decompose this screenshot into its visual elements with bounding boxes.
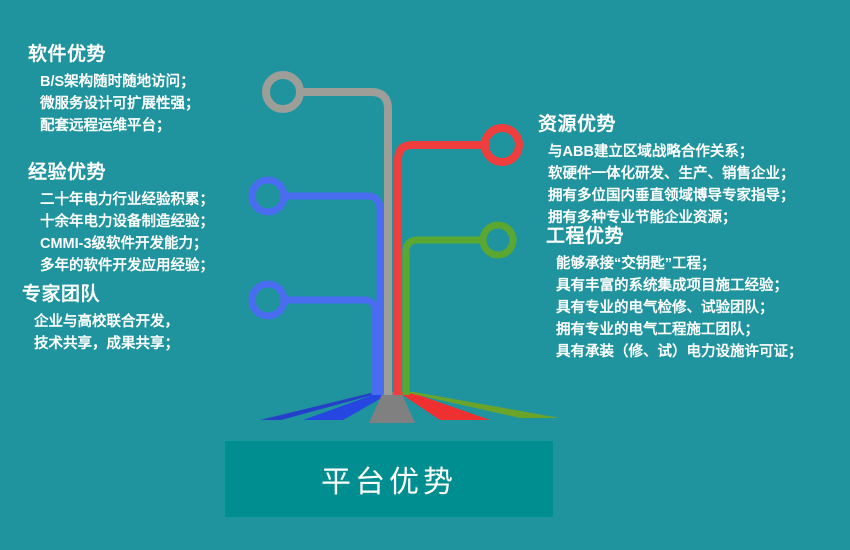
block-engineering-heading: 工程优势: [546, 224, 803, 250]
branch-path-experience: [284, 196, 380, 395]
block-expert-line: 技术共享，成果共享；: [34, 333, 179, 355]
block-engineering-line: 拥有专业的电气工程施工团队；: [556, 319, 803, 341]
block-engineering-line: 具有专业的电气检修、试验团队；: [556, 297, 803, 319]
root-fan: [260, 392, 560, 423]
block-experience-line: 十余年电力设备制造经验；: [40, 211, 214, 233]
block-experience: 经验优势 二十年电力行业经验积累； 十余年电力设备制造经验； CMMI-3级软件…: [28, 160, 214, 277]
block-experience-line: CMMI-3级软件开发能力；: [40, 233, 214, 255]
block-experience-lines: 二十年电力行业经验积累； 十余年电力设备制造经验； CMMI-3级软件开发能力；…: [28, 189, 214, 277]
block-engineering-lines: 能够承接“交钥匙”工程； 具有丰富的系统集成项目施工经验； 具有专业的电气检修、…: [546, 253, 803, 363]
node-software-icon[interactable]: [266, 75, 300, 109]
block-resource-line: 与ABB建立区域战略合作关系；: [548, 141, 795, 163]
block-experience-heading: 经验优势: [28, 160, 214, 186]
block-expert-heading: 专家团队: [22, 282, 179, 308]
branch-path-expert: [284, 300, 375, 395]
block-experience-line: 多年的软件开发应用经验；: [40, 255, 214, 277]
block-software-heading: 软件优势: [28, 42, 200, 68]
block-resource: 资源优势 与ABB建立区域战略合作关系； 软硬件一体化研发、生产、销售企业； 拥…: [538, 112, 795, 229]
node-engineering-icon[interactable]: [483, 225, 513, 255]
block-software-line: 配套远程运维平台；: [40, 115, 200, 137]
block-resource-heading: 资源优势: [538, 112, 795, 138]
block-software-line: B/S架构随时随地访问；: [40, 71, 200, 93]
block-experience-line: 二十年电力行业经验积累；: [40, 189, 214, 211]
node-experience-icon[interactable]: [252, 180, 284, 212]
platform-advantage-box: 平台优势: [224, 440, 554, 518]
node-resource-icon[interactable]: [485, 128, 519, 162]
block-resource-line: 软硬件一体化研发、生产、销售企业；: [548, 163, 795, 185]
block-engineering-line: 具有丰富的系统集成项目施工经验；: [556, 275, 803, 297]
block-resource-lines: 与ABB建立区域战略合作关系； 软硬件一体化研发、生产、销售企业； 拥有多位国内…: [538, 141, 795, 229]
block-expert-line: 企业与高校联合开发，: [34, 311, 179, 333]
node-expert-icon[interactable]: [252, 284, 284, 316]
branch-path-engineering: [406, 240, 483, 395]
block-expert-lines: 企业与高校联合开发， 技术共享，成果共享；: [22, 311, 179, 355]
block-engineering-line: 具有承装（修、试）电力设施许可证；: [556, 341, 803, 363]
block-software: 软件优势 B/S架构随时随地访问； 微服务设计可扩展性强； 配套远程运维平台；: [28, 42, 200, 137]
block-software-line: 微服务设计可扩展性强；: [40, 93, 200, 115]
branch-path-resource: [398, 145, 485, 395]
infographic-canvas: 软件优势 B/S架构随时随地访问； 微服务设计可扩展性强； 配套远程运维平台； …: [0, 0, 850, 550]
block-expert: 专家团队 企业与高校联合开发， 技术共享，成果共享；: [22, 282, 179, 355]
block-engineering-line: 能够承接“交钥匙”工程；: [556, 253, 803, 275]
platform-advantage-title: 平台优势: [321, 457, 457, 501]
block-engineering: 工程优势 能够承接“交钥匙”工程； 具有丰富的系统集成项目施工经验； 具有专业的…: [546, 224, 803, 363]
block-software-lines: B/S架构随时随地访问； 微服务设计可扩展性强； 配套远程运维平台；: [28, 71, 200, 137]
block-resource-line: 拥有多位国内垂直领域博导专家指导；: [548, 185, 795, 207]
